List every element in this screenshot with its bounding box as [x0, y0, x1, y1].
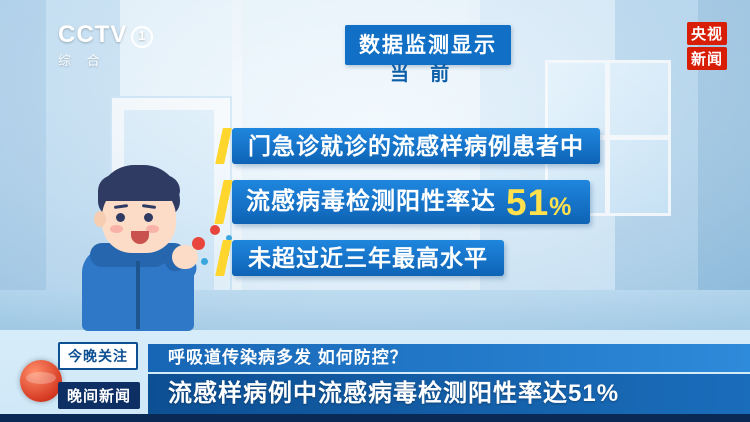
virus-particle-icon — [210, 225, 220, 235]
droplet-particle-icon — [201, 258, 208, 265]
lower-third-brand: 晚间新闻 — [58, 382, 140, 409]
percent-unit: % — [549, 193, 572, 221]
cctv-news-badge-line1: 央视 — [687, 22, 727, 45]
person-fringe — [98, 175, 180, 201]
virus-particle-icon — [192, 237, 205, 250]
lower-third-topic-text: 呼吸道传染病多发 如何防控？ — [168, 346, 408, 370]
graphic-bar-2: 流感病毒检测阳性率达 51% — [232, 180, 590, 224]
graphic-bar-3-text: 未超过近三年最高水平 — [248, 245, 488, 271]
cctv-news-badge: 央视 新闻 — [678, 22, 736, 70]
person-eye-left — [116, 213, 125, 222]
graphic-bar-2-percent: 51% — [506, 184, 572, 221]
lower-third-headline-text: 流感样病例中流感病毒检测阳性率达51% — [168, 376, 619, 412]
cctv-channel-number: 1 — [131, 26, 153, 48]
person-eye-right — [144, 213, 153, 222]
cctv-logo-label: CCTV — [58, 21, 127, 48]
person-ear — [94, 211, 106, 227]
person-zipper — [136, 261, 140, 329]
graphic-bar-1-text: 门急诊就诊的流感样病例患者中 — [248, 133, 584, 159]
percent-value: 51 — [506, 182, 549, 223]
graphic-bar-1: 门急诊就诊的流感样病例患者中 — [232, 128, 600, 164]
lower-third-baseline — [0, 414, 750, 422]
cctv-channel-logo: CCTV1 综 合 — [58, 22, 178, 70]
coughing-person-illustration — [60, 165, 235, 330]
person-cheek-left — [110, 225, 123, 233]
cctv-news-badge-line2: 新闻 — [687, 47, 727, 70]
lower-third-tag: 今晚关注 — [58, 342, 138, 370]
cctv-logo-subtitle: 综 合 — [58, 50, 178, 69]
cctv-logo-text: CCTV1 — [58, 22, 178, 48]
graphic-bar-2-text: 流感病毒检测阳性率达 — [246, 180, 496, 224]
graphic-subtitle: 当 前 — [390, 59, 457, 86]
program-globe-icon — [20, 360, 62, 402]
graphic-bar-3: 未超过近三年最高水平 — [232, 240, 504, 276]
lower-third: 呼吸道传染病多发 如何防控？ 流感样病例中流感病毒检测阳性率达51% 今晚关注 … — [0, 330, 750, 422]
broadcast-screenshot: CCTV1 综 合 央视 新闻 数据监测显示 当 前 门急 — [0, 0, 750, 422]
